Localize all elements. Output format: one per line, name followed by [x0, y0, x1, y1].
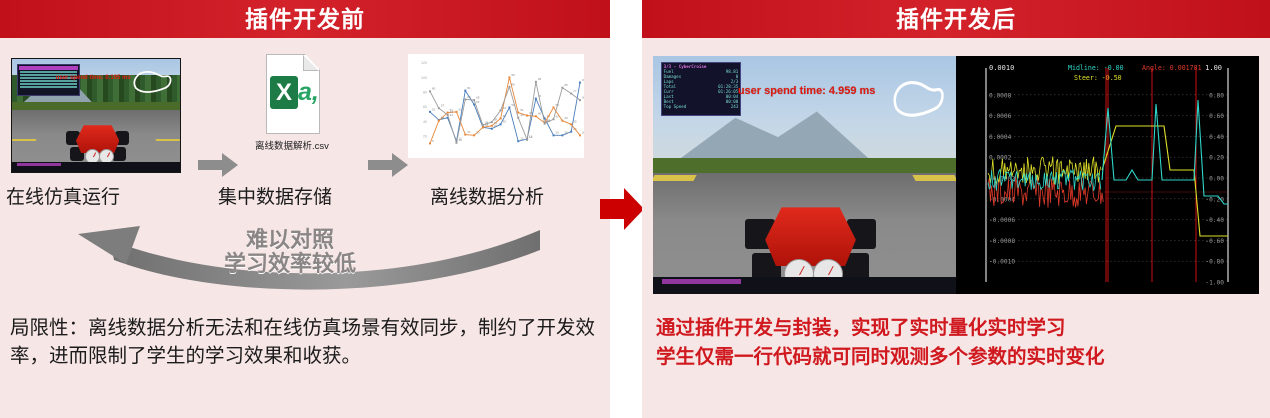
car-body	[765, 207, 856, 266]
sim-status-bar	[12, 162, 180, 172]
svg-text:40: 40	[441, 116, 445, 120]
svg-text:9: 9	[432, 139, 434, 143]
online-simulation-screenshot: user spend time: 0.105 ms	[11, 58, 181, 173]
svg-text:34: 34	[485, 120, 489, 124]
svg-text:1.00: 1.00	[1205, 64, 1222, 72]
sim-status-text	[17, 163, 61, 166]
race-car	[66, 119, 130, 164]
flow-arrow-1-icon	[198, 152, 238, 178]
svg-text:12: 12	[520, 137, 524, 141]
benefit-line-2: 学生仅需一行代码就可同时观测多个参数的实时变化	[656, 343, 1260, 372]
hud-panel: 3/3 - CyberCroise Fuel98.81Damages0Laps2…	[661, 62, 742, 116]
excel-a-glyph: a,	[298, 76, 319, 109]
left-panel-header: 插件开发前	[0, 0, 610, 38]
flow-label-offline-analysis: 离线数据分析	[430, 182, 544, 209]
feedback-line-1: 难以对照	[150, 228, 430, 252]
hud-row	[20, 86, 76, 88]
svg-text:20: 20	[423, 135, 427, 139]
svg-text:40: 40	[564, 116, 568, 120]
line-chart-svg: 2040608010012052414412816231293558121570…	[408, 54, 584, 158]
hud-title-bar	[19, 66, 77, 70]
benefit-line-1: 通过插件开发与封装，实现了实时量化实时学习	[656, 314, 1260, 343]
transition-right-arrow-icon	[600, 186, 644, 232]
limitation-paragraph: 局限性：离线数据分析无法和在线仿真场景有效同步，制约了开发效率，进而限制了学生的…	[10, 314, 605, 371]
oscilloscope-svg: 0.00101.000.00080.00060.00040.0002-0.000…	[956, 56, 1259, 294]
hud-row	[20, 71, 76, 73]
svg-text:-0.60: -0.60	[1205, 238, 1224, 245]
svg-text:-0.0008: -0.0008	[989, 238, 1015, 245]
svg-text:35: 35	[503, 120, 507, 124]
svg-text:-0.40: -0.40	[1205, 217, 1224, 224]
svg-text:85: 85	[564, 83, 568, 87]
svg-text:0.40: 0.40	[1209, 134, 1224, 141]
svg-text:0.0004: 0.0004	[989, 134, 1012, 141]
svg-text:0.0008: 0.0008	[989, 92, 1012, 99]
svg-text:80: 80	[423, 91, 427, 95]
kerb-left	[653, 175, 697, 181]
slide-root: 插件开发前	[0, 0, 1270, 418]
left-panel-body: user spend time: 0.105 ms X a, 离线数据解析.cs…	[0, 42, 610, 418]
svg-text:46: 46	[538, 112, 542, 116]
sim-overlay-text: user spend time: 4.959 ms	[738, 85, 876, 97]
kerb-right	[912, 175, 956, 181]
track-minimap-icon	[130, 66, 174, 95]
svg-text:20: 20	[582, 131, 584, 135]
svg-text:77: 77	[573, 89, 577, 93]
svg-text:36: 36	[547, 119, 551, 123]
csv-filename-label: 离线数据解析.csv	[246, 138, 338, 152]
svg-text:51: 51	[520, 108, 524, 112]
sim-overlay-text: user spend time: 0.105 ms	[56, 75, 131, 81]
svg-text:21: 21	[467, 130, 471, 134]
svg-text:20: 20	[476, 131, 480, 135]
svg-text:86: 86	[511, 82, 515, 86]
sim-status-bar	[653, 277, 956, 294]
svg-text:-0.0006: -0.0006	[989, 217, 1015, 224]
svg-text:100: 100	[421, 76, 427, 80]
svg-text:99: 99	[511, 73, 515, 77]
kerb-left	[11, 139, 36, 141]
svg-text:92: 92	[582, 78, 584, 82]
svg-text:81: 81	[467, 86, 471, 90]
svg-text:10: 10	[458, 138, 462, 142]
race-car	[744, 194, 877, 289]
svg-text:57: 57	[441, 104, 445, 108]
feedback-line-2: 学习效率较低	[150, 252, 430, 276]
hud-row-list: Fuel98.81Damages0Laps2/3Total01:28:35Cur…	[662, 69, 741, 109]
svg-text:62: 62	[476, 100, 480, 104]
realtime-plot-panel: 0.00101.000.00080.00060.00040.0002-0.000…	[956, 56, 1259, 294]
svg-text:60: 60	[423, 105, 427, 109]
flow-label-row: 在线仿真运行 集中数据存储 离线数据分析	[0, 182, 610, 210]
svg-text:0.80: 0.80	[1209, 92, 1224, 99]
svg-text:52: 52	[432, 107, 436, 111]
left-panel-title: 插件开发前	[245, 8, 365, 31]
svg-text:Steer: -0.50: Steer: -0.50	[1074, 74, 1122, 82]
hud-row	[20, 83, 76, 85]
gauge-needle	[799, 266, 805, 275]
svg-text:48: 48	[450, 110, 454, 114]
flow-label-online-sim: 在线仿真运行	[6, 182, 120, 209]
svg-text:120: 120	[421, 61, 427, 65]
gauge-needle	[107, 152, 110, 157]
hud-row: Top Speed243	[662, 104, 741, 109]
svg-text:14: 14	[529, 135, 533, 139]
sim-status-text	[662, 279, 741, 284]
flow-label-data-storage: 集中数据存储	[218, 182, 332, 209]
svg-text:-1.00: -1.00	[1205, 280, 1224, 287]
right-panel-body: 3/3 - CyberCroise Fuel98.81Damages0Laps2…	[642, 42, 1270, 418]
excel-x-icon: X	[270, 76, 298, 109]
svg-text:0.20: 0.20	[1209, 155, 1224, 162]
svg-text:0.60: 0.60	[1209, 113, 1224, 120]
gauge-needle	[828, 266, 834, 275]
gauge-needle	[93, 152, 96, 157]
realtime-simulation-screenshot: 3/3 - CyberCroise Fuel98.81Damages0Laps2…	[653, 56, 956, 294]
svg-text:Angle: 0.001781: Angle: 0.001781	[1142, 64, 1202, 72]
svg-text:52: 52	[458, 107, 462, 111]
svg-text:0.0010: 0.0010	[989, 64, 1014, 72]
track-minimap-icon	[889, 73, 947, 121]
svg-text:69: 69	[467, 95, 471, 99]
csv-file-icon: X a, 离线数据解析.csv	[258, 54, 326, 144]
benefit-paragraph: 通过插件开发与封装，实现了实时量化实时学习 学生仅需一行代码就可同时观测多个参数…	[656, 314, 1260, 373]
svg-text:44: 44	[520, 113, 524, 117]
hud-row-label: Top Speed	[664, 104, 687, 109]
svg-text:-0.0010: -0.0010	[989, 259, 1015, 266]
svg-text:68: 68	[476, 96, 480, 100]
kerb-right	[156, 139, 181, 141]
flow-arrow-2-icon	[368, 152, 408, 178]
feedback-arrow-caption: 难以对照 学习效率较低	[150, 228, 430, 276]
right-panel: 插件开发后	[642, 0, 1270, 418]
right-panel-title: 插件开发后	[896, 8, 1016, 31]
right-panel-header: 插件开发后	[642, 0, 1270, 38]
svg-text:42: 42	[556, 115, 560, 119]
svg-text:-0.80: -0.80	[1205, 259, 1224, 266]
svg-text:38: 38	[494, 118, 498, 122]
svg-text:33: 33	[494, 121, 498, 125]
svg-text:0.00: 0.00	[1209, 176, 1224, 183]
svg-text:68: 68	[582, 96, 584, 100]
svg-text:43: 43	[503, 114, 507, 118]
svg-text:Midline: -0.00: Midline: -0.00	[1068, 64, 1124, 72]
svg-text:54: 54	[503, 106, 507, 110]
grass-strip	[653, 158, 956, 172]
svg-text:80: 80	[432, 87, 436, 91]
svg-text:40: 40	[423, 120, 427, 124]
svg-text:20: 20	[556, 131, 560, 135]
hud-row-value: 243	[731, 104, 739, 109]
svg-text:93: 93	[538, 77, 542, 81]
car-body	[76, 125, 119, 153]
svg-text:20: 20	[564, 131, 568, 135]
svg-text:35: 35	[573, 120, 577, 124]
offline-analysis-chart: 2040608010012052414412816231293558121570…	[408, 54, 584, 158]
left-panel: 插件开发前	[0, 0, 610, 418]
svg-text:0.0006: 0.0006	[989, 113, 1012, 120]
